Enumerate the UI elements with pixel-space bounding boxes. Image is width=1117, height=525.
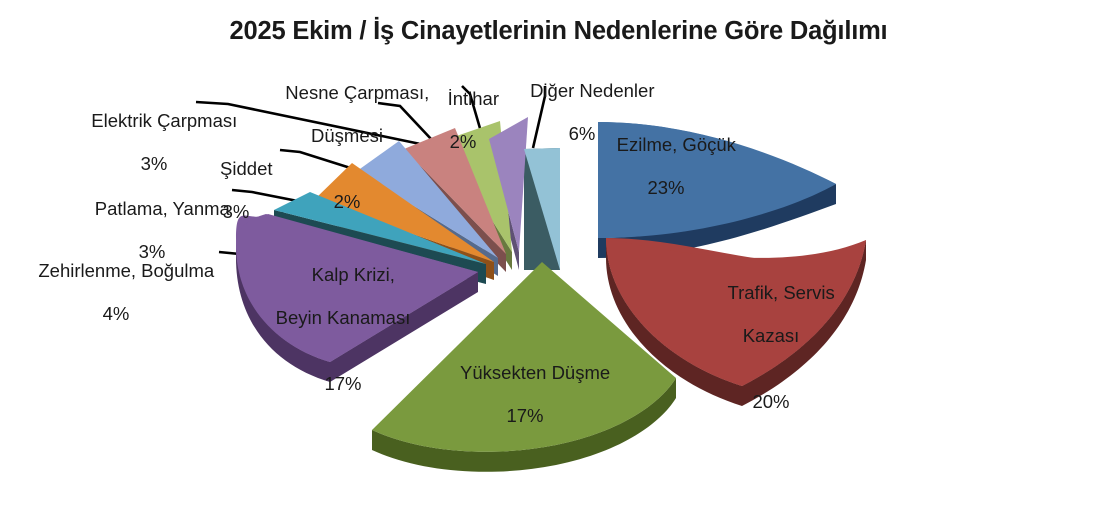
- slice-label-trafik-line2: Kazası: [686, 325, 856, 347]
- slice-label-elektrik-percent: 3%: [70, 153, 238, 175]
- slice-label-kalp-krizi-percent: 17%: [248, 373, 438, 395]
- slice-label-nesne-carpmasi: Nesne Çarpması, Düşmesi 2%: [262, 60, 432, 256]
- slice-label-trafik-line1: Trafik, Servis: [727, 282, 834, 303]
- slice-label-kalp-krizi: Kalp Krizi, Beyin Kanaması 17%: [248, 242, 438, 438]
- slice-label-intihar: İntihar 2%: [416, 66, 510, 197]
- slice-label-intihar-percent: 2%: [416, 131, 510, 153]
- slice-label-yuksekten-dusme-text: Yüksekten Düşme: [460, 362, 610, 383]
- slice-label-trafik-percent: 20%: [686, 391, 856, 413]
- pie-chart-page: 2025 Ekim / İş Cinayetlerinin Nedenlerin…: [0, 0, 1117, 525]
- slice-label-nesne-line2: Düşmesi: [262, 125, 432, 147]
- slice-label-yuksekten-dusme-percent: 17%: [430, 405, 620, 427]
- slice-label-elektrik-text: Elektrik Çarpması: [91, 110, 237, 131]
- slice-label-diger-percent: 6%: [500, 123, 664, 145]
- slice-label-elektrik-carpmasi: Elektrik Çarpması 3%: [70, 88, 238, 219]
- slice-label-kalp-krizi-line2: Beyin Kanaması: [248, 307, 438, 329]
- slice-label-diger-nedenler: Diğer Nedenler 6%: [500, 58, 664, 189]
- slice-label-diger-text: Diğer Nedenler: [530, 80, 654, 101]
- slice-label-yuksekten-dusme: Yüksekten Düşme 17%: [430, 340, 620, 471]
- slice-label-kalp-krizi-line1: Kalp Krizi,: [312, 264, 395, 285]
- slice-label-intihar-text: İntihar: [448, 88, 499, 109]
- slice-label-trafik-servis-kazasi: Trafik, Servis Kazası 20%: [686, 260, 856, 456]
- slice-label-nesne-percent: 2%: [262, 191, 432, 213]
- slice-label-nesne-line1: Nesne Çarpması,: [285, 82, 429, 103]
